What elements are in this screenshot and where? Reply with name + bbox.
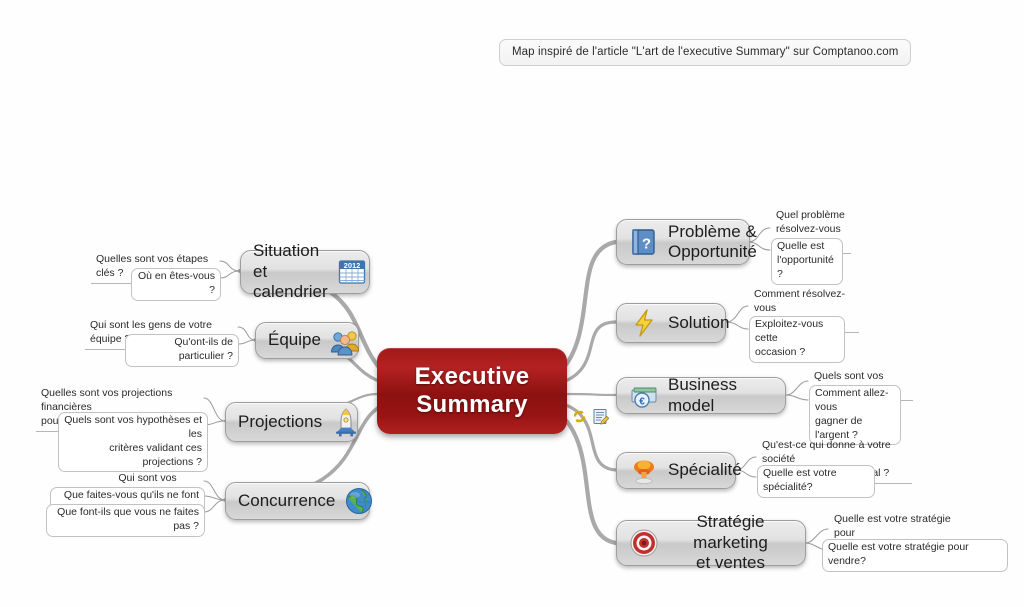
topic-label: Business model <box>668 375 773 416</box>
topic-label: Situation et calendrier <box>253 241 328 302</box>
subtopic-item[interactable]: Que font-ils que vous ne faites pas ? <box>46 504 205 537</box>
subtopic-item[interactable]: Quelle est votre stratégie pour vendre? <box>822 539 1008 572</box>
note-edit-icon[interactable] <box>592 408 609 425</box>
topic-equipe[interactable]: Équipe <box>255 322 359 359</box>
topic-label: Équipe <box>268 330 321 350</box>
topic-label: Problème & Opportunité <box>668 222 757 263</box>
topic-projections[interactable]: Projections <box>225 402 358 442</box>
topic-situation-calendrier[interactable]: Situation et calendrier 2012 <box>240 250 370 294</box>
topic-concurrence[interactable]: Concurrence <box>225 482 370 520</box>
topic-label: Concurrence <box>238 491 335 511</box>
topic-label: Solution <box>668 313 729 333</box>
rocket-icon <box>331 407 361 437</box>
credit-note: Map inspiré de l'article "L'art de l'exe… <box>499 39 911 66</box>
subtopic-item[interactable]: Où en êtes-vous ? <box>131 268 221 301</box>
topic-label: Projections <box>238 412 322 432</box>
target-icon <box>629 528 659 558</box>
mindmap-canvas: Map inspiré de l'article "L'art de l'exe… <box>0 0 1024 607</box>
topic-probleme-opportunite[interactable]: ? Problème & Opportunité <box>616 219 750 265</box>
root-node-label: Executive Summary <box>377 363 567 420</box>
calendar-year-text: 2012 <box>343 261 360 270</box>
topic-solution[interactable]: Solution <box>616 303 726 343</box>
svg-text:?: ? <box>642 236 651 253</box>
calendar-2012-icon: 2012 <box>337 257 367 287</box>
subtopic-item[interactable]: Quelle est l'opportunité ? <box>771 238 843 285</box>
topic-label: Stratégie marketing et ventes <box>668 512 793 573</box>
topic-specialite[interactable]: Spécialité <box>616 452 736 489</box>
subtopic-item[interactable]: Quels sont vos hypothèses et les critère… <box>58 412 208 472</box>
subtopic-item[interactable]: Exploitez-vous cette occasion ? <box>749 316 845 363</box>
subtopic-item[interactable]: Quelle est votre spécialité? <box>757 465 875 498</box>
svg-text:€: € <box>639 396 645 407</box>
money-euro-icon: € <box>629 381 659 411</box>
book-question-icon: ? <box>629 227 659 257</box>
root-markers <box>571 408 609 425</box>
team-people-icon <box>330 326 360 356</box>
root-node[interactable]: Executive Summary <box>377 348 567 434</box>
topic-strategie-marketing[interactable]: Stratégie marketing et ventes <box>616 520 806 566</box>
link-refresh-icon[interactable] <box>571 408 588 425</box>
lightning-bolt-icon <box>629 308 659 338</box>
explosion-icon <box>629 456 659 486</box>
subtopic-item[interactable]: Qu'ont-ils de particulier ? <box>125 334 239 367</box>
topic-business-model[interactable]: € Business model <box>616 377 786 414</box>
topic-label: Spécialité <box>668 460 742 480</box>
globe-icon <box>344 486 374 516</box>
subtopic-item[interactable]: Comment allez-vous gagner de l'argent ? <box>809 385 901 445</box>
